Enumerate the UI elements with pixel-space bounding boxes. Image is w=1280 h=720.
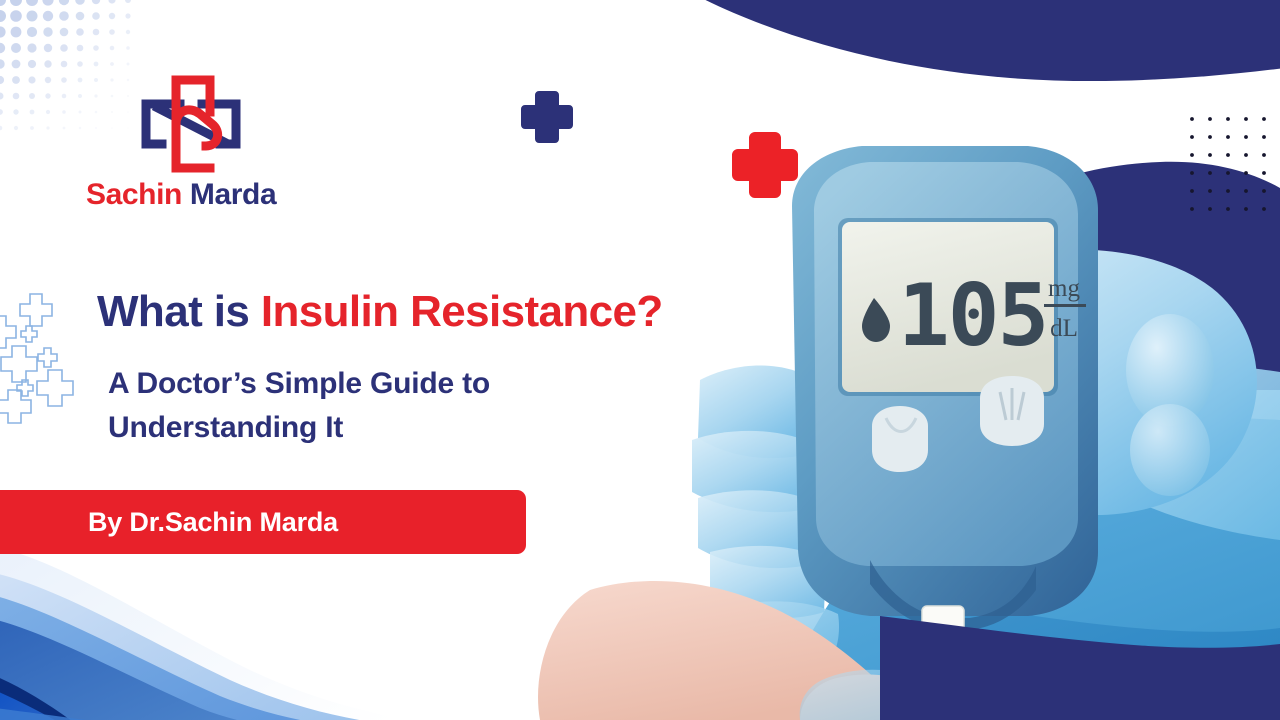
navy-blob-bottom-right <box>880 590 1280 720</box>
author-byline-text: By Dr.Sachin Marda <box>88 507 338 538</box>
poster-canvas: 105 mg dL <box>0 0 1280 720</box>
red-plus-icon <box>729 129 801 201</box>
meter-button-right <box>980 376 1044 446</box>
page-subtitle: A Doctor’s Simple Guide to Understanding… <box>108 362 748 451</box>
brand-wordmark: Sachin Marda <box>86 178 316 212</box>
navy-plus-icon <box>519 89 575 145</box>
brand-logo[interactable]: Sachin Marda <box>86 72 316 207</box>
headline-part-red: Insulin Resistance? <box>261 287 663 336</box>
medical-cross-sm-monogram-icon <box>128 72 254 176</box>
navy-shape-photo-overlay <box>880 600 1280 720</box>
meter-unit-denominator: dL <box>1050 315 1078 342</box>
brand-name-first: Sachin <box>86 178 182 211</box>
brand-name-last: Marda <box>190 178 276 211</box>
author-byline-banner: By Dr.Sachin Marda <box>0 490 526 554</box>
subtitle-line-1: A Doctor’s Simple Guide to <box>108 362 748 406</box>
test-strip <box>922 606 964 720</box>
navy-blob-right <box>990 150 1280 390</box>
blood-drop-icon <box>862 298 890 342</box>
meter-button-left <box>872 406 928 472</box>
outlined-cross-cluster-icon <box>0 270 92 440</box>
headline-part-navy: What is <box>97 287 261 336</box>
navy-blob-top <box>540 0 1280 120</box>
subtitle-line-2: Understanding It <box>108 406 748 450</box>
page-title: What is Insulin Resistance? <box>97 289 797 336</box>
meter-reading: 105 <box>898 266 1047 366</box>
dot-grid-right-icon <box>1188 115 1280 211</box>
meter-unit-numerator: mg <box>1048 275 1080 302</box>
